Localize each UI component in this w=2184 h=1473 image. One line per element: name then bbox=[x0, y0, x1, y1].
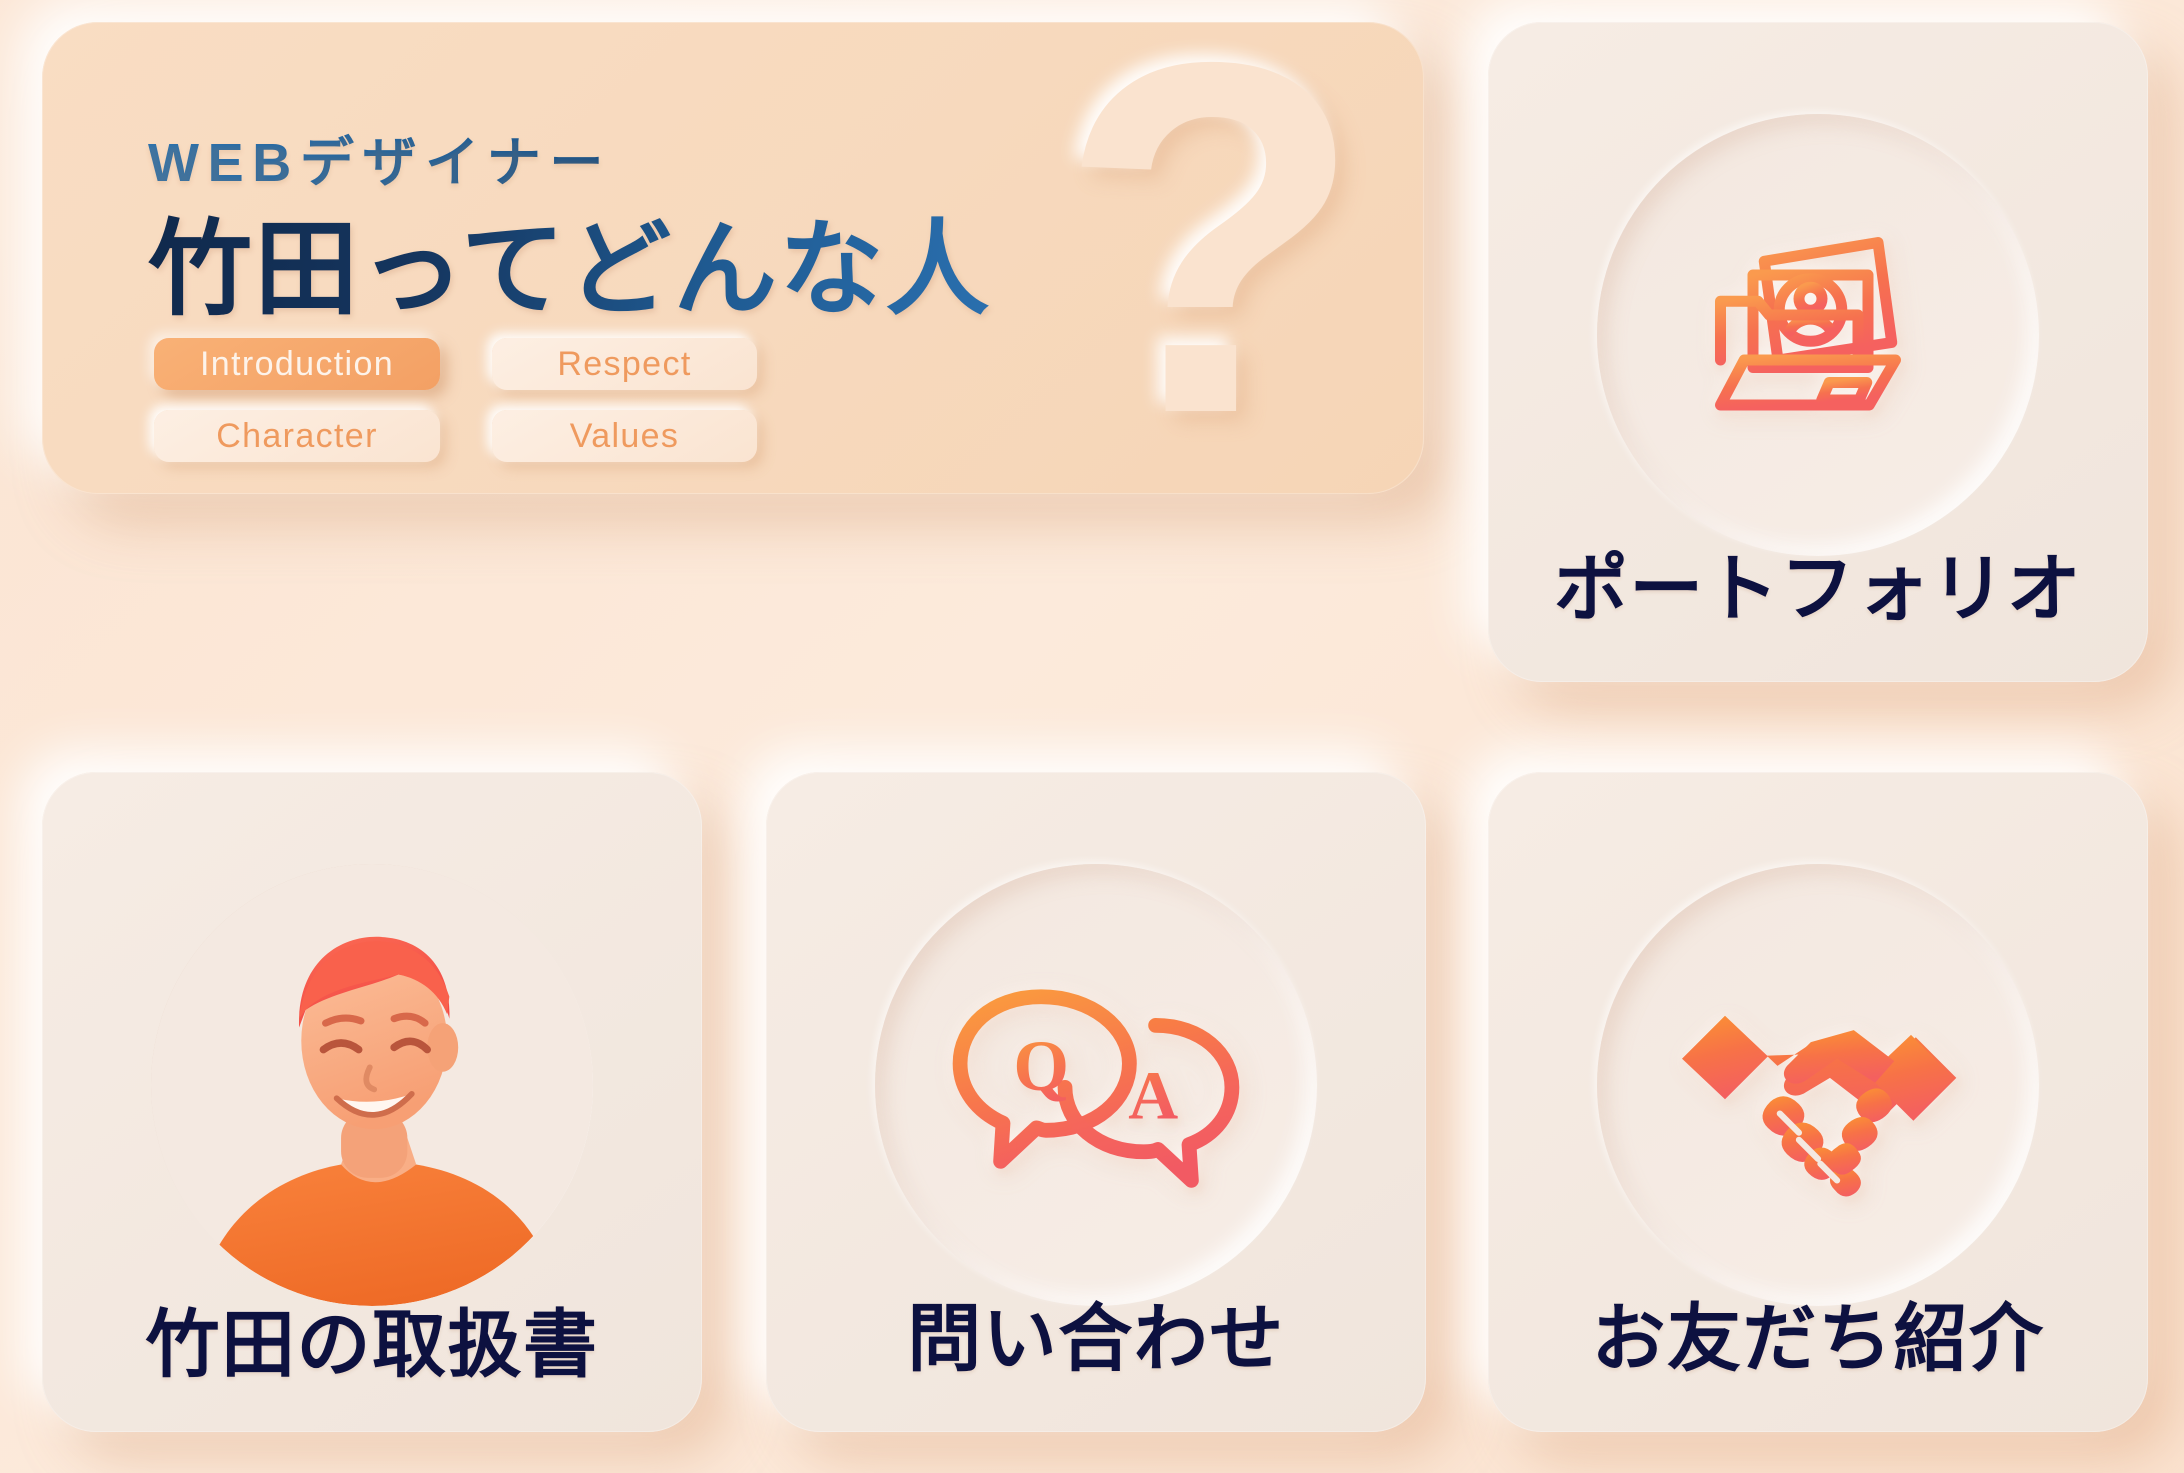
card-contact[interactable]: Q A 問い合わせ bbox=[766, 772, 1426, 1432]
icon-disc: Q A bbox=[875, 864, 1317, 1306]
icon-disc bbox=[1597, 114, 2039, 556]
page-root: ? WEBデザイナー 竹田ってどんな人 Introduction Respect… bbox=[0, 0, 2184, 1473]
tag-respect[interactable]: Respect bbox=[492, 338, 757, 390]
handshake-icon bbox=[1663, 945, 1973, 1225]
a-letter: A bbox=[1128, 1056, 1178, 1133]
portrait-photo bbox=[151, 864, 593, 1306]
card-label-manual: 竹田の取扱書 bbox=[42, 1285, 702, 1392]
qa-speech-bubbles-icon: Q A bbox=[941, 935, 1251, 1235]
card-label-portfolio: ポートフォリオ bbox=[1488, 529, 2148, 636]
folder-photos-icon bbox=[1668, 185, 1968, 485]
hero-eyebrow: WEBデザイナー bbox=[148, 118, 991, 197]
hero-tag-list: Introduction Respect Character Values bbox=[154, 338, 757, 462]
tag-character[interactable]: Character bbox=[154, 410, 440, 462]
card-portfolio[interactable]: ポートフォリオ bbox=[1488, 22, 2148, 682]
avatar bbox=[151, 864, 593, 1306]
tag-introduction[interactable]: Introduction bbox=[154, 338, 440, 390]
card-manual[interactable]: 竹田の取扱書 bbox=[42, 772, 702, 1432]
icon-disc bbox=[1597, 864, 2039, 1306]
card-label-friends: お友だち紹介 bbox=[1488, 1279, 2148, 1386]
hero-text-block: WEBデザイナー 竹田ってどんな人 bbox=[148, 118, 991, 330]
card-friends[interactable]: お友だち紹介 bbox=[1488, 772, 2148, 1432]
card-label-contact: 問い合わせ bbox=[766, 1279, 1426, 1386]
hero-title: 竹田ってどんな人 bbox=[148, 211, 991, 330]
q-letter: Q bbox=[1013, 1027, 1069, 1106]
tag-values[interactable]: Values bbox=[492, 410, 757, 462]
question-mark-decoration: ? bbox=[1059, 22, 1364, 488]
hero-card[interactable]: ? WEBデザイナー 竹田ってどんな人 Introduction Respect… bbox=[42, 22, 1424, 494]
